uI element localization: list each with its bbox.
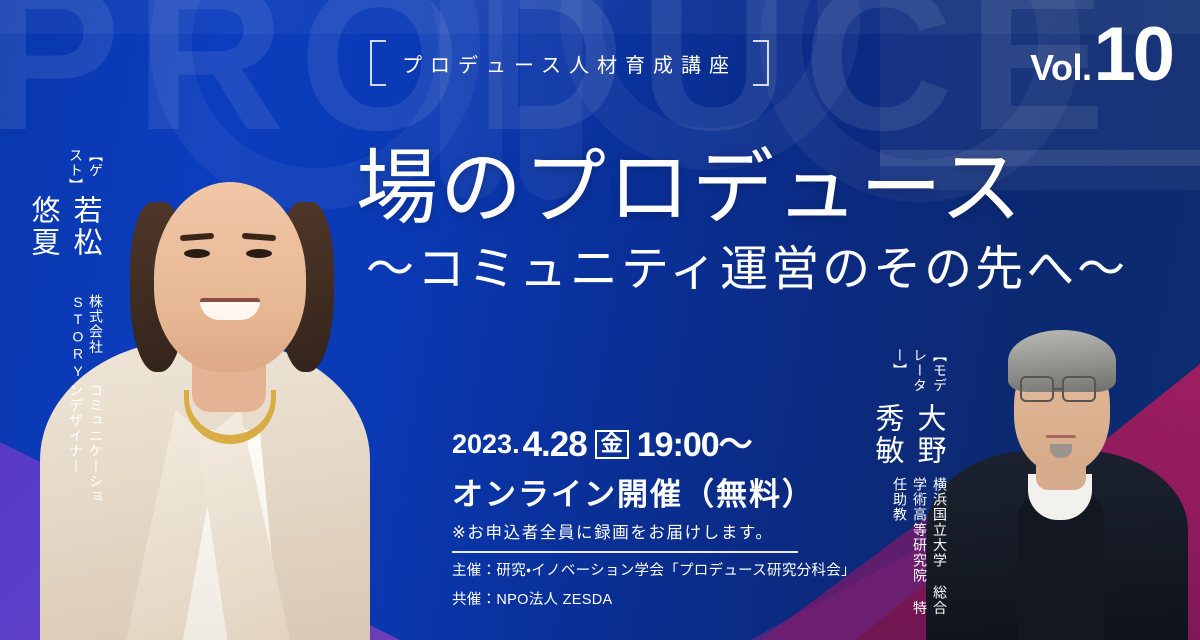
moderator-role: 【モデレーター】 bbox=[890, 348, 950, 400]
event-date-line: 2023. 4.28 金 19:00～ bbox=[452, 424, 802, 465]
moderator-name: 大野 秀敏 bbox=[866, 403, 950, 474]
event-cohost: 共催：NPO法人 ZESDA bbox=[452, 589, 802, 611]
event-banner: PRODUCE bbox=[0, 0, 1200, 640]
bracket-left-icon bbox=[370, 40, 386, 86]
guest-role: 【ゲスト】 bbox=[66, 148, 106, 192]
event-note: ※お申込者全員に録画をお届けします。 bbox=[452, 519, 802, 543]
moderator-glasses-right-lens bbox=[1062, 376, 1096, 402]
event-year: 2023. bbox=[452, 429, 520, 461]
moderator-glasses-bridge bbox=[1054, 388, 1062, 391]
moderator-credit: 【モデレーター】 大野 秀敏 横浜国立大学 総合学術高等研究院 特任助教 bbox=[866, 348, 950, 618]
volume-badge: Vol. 10 bbox=[1030, 24, 1172, 89]
guest-org: 株式会社STORY bbox=[70, 294, 106, 380]
page-title: 場のプロデュース bbox=[356, 148, 1024, 230]
guest-credit: 【ゲスト】 若松 悠夏 株式会社STORY コミュニケーションデザイナー bbox=[22, 148, 106, 508]
event-info: 2023. 4.28 金 19:00～ オンライン開催（無料） ※お申込者全員に… bbox=[452, 424, 802, 612]
guest-smile bbox=[200, 298, 260, 320]
moderator-org: 横浜国立大学 総合学術高等研究院 特任助教 bbox=[890, 477, 950, 618]
guest-name: 若松 悠夏 bbox=[22, 195, 106, 291]
event-format: オンライン開催（無料） bbox=[452, 469, 802, 514]
event-time: 19:00～ bbox=[637, 425, 752, 465]
series-label: プロデュース人材育成講座 bbox=[370, 38, 769, 88]
moderator-mouth bbox=[1046, 435, 1076, 438]
bracket-right-icon bbox=[753, 40, 769, 86]
info-divider bbox=[452, 551, 798, 553]
series-label-text: プロデュース人材育成講座 bbox=[402, 49, 737, 78]
page-subtitle: ～コミュニティ運営のその先へ～ bbox=[366, 246, 1128, 294]
event-month-day: 4.28 bbox=[523, 424, 587, 465]
guest-eye-left bbox=[184, 249, 210, 258]
guest-face bbox=[154, 182, 306, 372]
event-weekday-badge: 金 bbox=[595, 430, 629, 459]
guest-title: コミュニケーションデザイナー bbox=[66, 383, 106, 508]
moderator-glasses-left-lens bbox=[1020, 376, 1054, 402]
guest-eye-right bbox=[246, 249, 272, 258]
moderator-portrait bbox=[932, 300, 1182, 640]
volume-label: Vol. bbox=[1030, 47, 1091, 89]
volume-number: 10 bbox=[1093, 24, 1172, 86]
event-host: 主催：研究・イノベーション学会「プロデュース研究分科会」 bbox=[452, 560, 802, 582]
